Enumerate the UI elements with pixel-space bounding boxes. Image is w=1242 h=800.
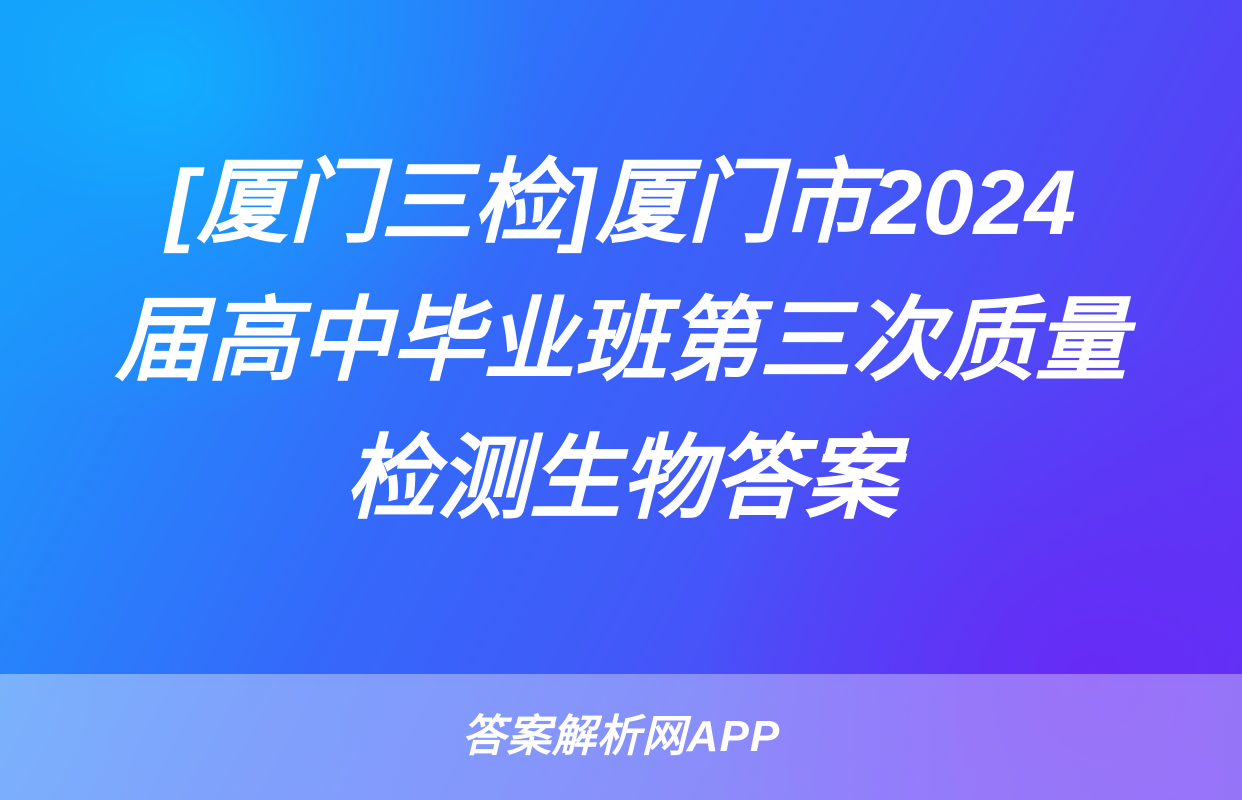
title-line-3: 检测生物答案 xyxy=(71,410,1171,548)
watermark-label: 答案解析网APP xyxy=(462,711,780,763)
title-line-1: [厦门三检]厦门市2024 xyxy=(71,134,1171,272)
title-line-2: 届高中毕业班第三次质量 xyxy=(71,272,1171,410)
promo-banner: [厦门三检]厦门市2024 届高中毕业班第三次质量 检测生物答案 答案解析网AP… xyxy=(0,0,1242,800)
watermark-band: 答案解析网APP xyxy=(0,674,1242,800)
banner-title-block: [厦门三检]厦门市2024 届高中毕业班第三次质量 检测生物答案 xyxy=(0,0,1242,674)
